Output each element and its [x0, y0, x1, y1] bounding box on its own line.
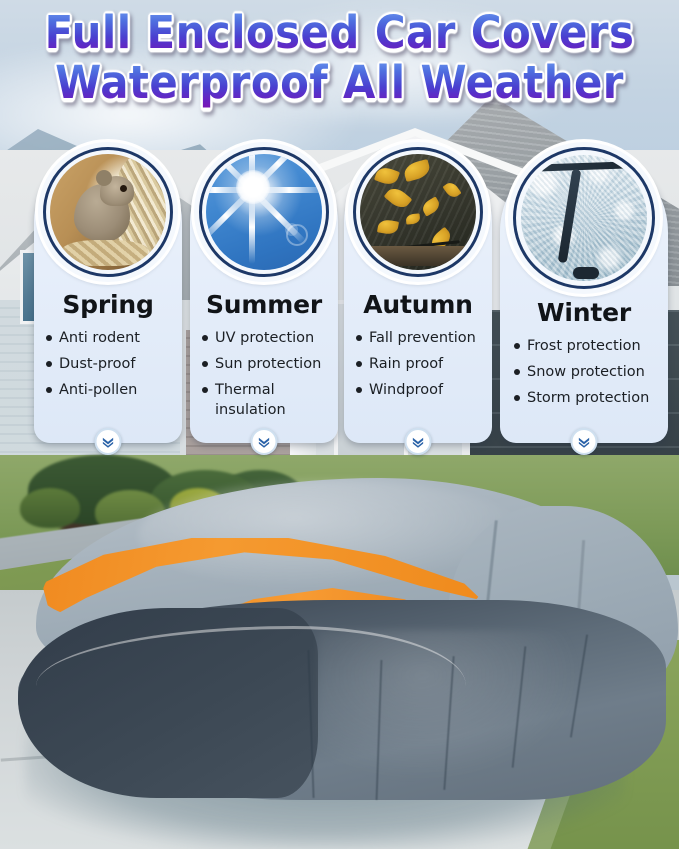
list-item: Anti-pollen	[44, 380, 176, 400]
headline-line-2: Waterproof All Weather	[24, 58, 655, 108]
headline: Full Enclosed Car Covers Waterproof All …	[0, 8, 679, 108]
season-cards: Spring Anti rodent Dust-proof Anti-polle…	[0, 148, 679, 468]
list-item: Snow protection	[512, 362, 662, 382]
fallen-leaves-on-windshield-photo	[360, 154, 476, 270]
headline-line-1: Full Enclosed Car Covers	[24, 8, 655, 58]
season-card-summer[interactable]: Summer UV protection Sun protection Ther…	[190, 148, 338, 443]
chevron-double-down-icon[interactable]	[405, 428, 432, 455]
season-card-autumn[interactable]: Autumn Fall prevention Rain proof Windpr…	[344, 148, 492, 443]
season-card-winter[interactable]: Winter Frost protection Snow protection …	[500, 148, 668, 443]
feature-list-spring: Anti rodent Dust-proof Anti-pollen	[34, 328, 182, 406]
list-item: Windproof	[354, 380, 486, 400]
spring-photo-frame	[38, 142, 178, 282]
list-item: Sun protection	[200, 354, 332, 374]
feature-list-autumn: Fall prevention Rain proof Windproof	[344, 328, 492, 406]
sun-in-blue-sky-photo	[206, 154, 322, 270]
list-item: Thermal insulation	[200, 380, 332, 420]
feature-list-winter: Frost protection Snow protection Storm p…	[500, 336, 668, 414]
card-title-summer: Summer	[190, 290, 338, 319]
list-item: Rain proof	[354, 354, 486, 374]
autumn-photo-frame	[348, 142, 488, 282]
chevron-double-down-icon[interactable]	[251, 428, 278, 455]
list-item: Frost protection	[512, 336, 662, 356]
list-item: Dust-proof	[44, 354, 176, 374]
card-title-winter: Winter	[500, 298, 668, 327]
list-item: Fall prevention	[354, 328, 486, 348]
feature-list-summer: UV protection Sun protection Thermal ins…	[190, 328, 338, 426]
rodent-in-nest-photo	[50, 154, 166, 270]
car-cover-product	[18, 470, 668, 810]
product-marketing-image: Full Enclosed Car Covers Waterproof All …	[0, 0, 679, 849]
summer-photo-frame	[194, 142, 334, 282]
list-item: Anti rodent	[44, 328, 176, 348]
card-title-autumn: Autumn	[344, 290, 492, 319]
list-item: Storm protection	[512, 388, 662, 408]
winter-photo-frame	[508, 142, 660, 294]
chevron-double-down-icon[interactable]	[95, 428, 122, 455]
frosted-window-wiper-photo	[521, 155, 647, 281]
card-title-spring: Spring	[34, 290, 182, 319]
season-card-spring[interactable]: Spring Anti rodent Dust-proof Anti-polle…	[34, 148, 182, 443]
chevron-double-down-icon[interactable]	[571, 428, 598, 455]
list-item: UV protection	[200, 328, 332, 348]
